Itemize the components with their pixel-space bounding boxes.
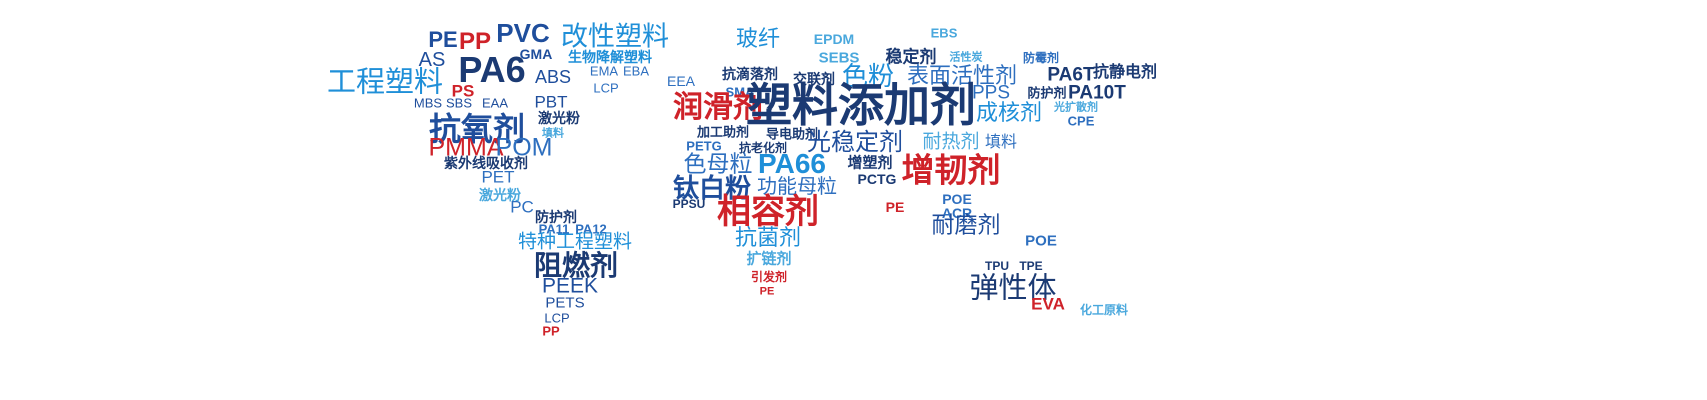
word-cloud-canvas: PEPPPVCGMA改性塑料玻纤EPDMEBSASPA6ABS生物降解塑料EMA…	[0, 0, 1707, 400]
cloud-word[interactable]: 加工助剂	[697, 126, 749, 139]
cloud-word[interactable]: 抗静电剂	[1093, 65, 1157, 81]
cloud-word[interactable]: EBS	[931, 27, 958, 40]
cloud-word[interactable]: 化工原料	[1080, 304, 1128, 316]
cloud-word[interactable]: 特种工程塑料	[518, 233, 632, 252]
cloud-word[interactable]: PVC	[496, 20, 549, 46]
cloud-word[interactable]: TPE	[1019, 260, 1042, 272]
cloud-word[interactable]: POE	[1025, 234, 1057, 249]
cloud-word[interactable]: ABS	[535, 68, 571, 86]
cloud-word[interactable]: EAA	[482, 97, 508, 110]
cloud-word[interactable]: 耐热剂	[922, 133, 979, 152]
cloud-word[interactable]: 光扩散剂	[1054, 103, 1098, 114]
cloud-word[interactable]: 抗菌剂	[735, 227, 801, 249]
cloud-word[interactable]: 扩链剂	[746, 252, 791, 267]
cloud-word[interactable]: CPE	[1068, 115, 1095, 128]
cloud-word[interactable]: LCP	[593, 82, 618, 95]
cloud-word[interactable]: PA66	[758, 150, 826, 178]
cloud-word[interactable]: EEA	[667, 74, 695, 88]
cloud-word[interactable]: PC	[510, 199, 534, 216]
cloud-word[interactable]: PE	[428, 29, 457, 51]
cloud-word[interactable]: PCTG	[858, 172, 897, 186]
cloud-word[interactable]: PPSU	[673, 198, 706, 210]
cloud-word[interactable]: PETS	[545, 296, 584, 311]
cloud-word[interactable]: 引发剂	[751, 271, 787, 283]
cloud-word[interactable]: 增韧剂	[902, 154, 1001, 187]
cloud-word[interactable]: PET	[481, 169, 514, 186]
cloud-word[interactable]: TPU	[985, 260, 1009, 272]
cloud-word[interactable]: EBA	[623, 65, 649, 78]
cloud-word[interactable]: 活性炭	[950, 53, 983, 64]
cloud-word[interactable]: 生物降解塑料	[568, 50, 652, 64]
cloud-word[interactable]: 填料	[985, 135, 1017, 151]
cloud-word[interactable]: EMA	[590, 65, 618, 78]
cloud-word[interactable]: PPS	[972, 84, 1010, 103]
cloud-word[interactable]: 工程塑料	[327, 69, 443, 98]
cloud-word[interactable]: 玻纤	[736, 28, 780, 50]
cloud-word[interactable]: POE	[942, 192, 972, 206]
cloud-word[interactable]: 激光粉	[538, 111, 580, 125]
cloud-word[interactable]: EVA	[1031, 296, 1065, 313]
cloud-word[interactable]: 塑料添加剂	[746, 82, 976, 128]
cloud-word[interactable]: PA10T	[1068, 84, 1126, 103]
cloud-word[interactable]: 改性塑料	[561, 24, 669, 51]
cloud-word[interactable]: SBS	[446, 97, 472, 110]
cloud-word[interactable]: MBS	[414, 97, 442, 110]
cloud-word[interactable]: 相容剂	[717, 195, 819, 229]
cloud-word[interactable]: PP	[542, 325, 559, 338]
cloud-word[interactable]: PE	[886, 200, 905, 214]
cloud-word[interactable]: 防霉剂	[1023, 52, 1059, 64]
cloud-word[interactable]: PEEK	[542, 276, 598, 297]
cloud-word[interactable]: 增塑剂	[847, 156, 892, 171]
cloud-word[interactable]: 成核剂	[976, 102, 1042, 124]
cloud-word[interactable]: PBT	[534, 94, 567, 111]
cloud-word[interactable]: PE	[760, 287, 775, 298]
cloud-word[interactable]: EPDM	[814, 32, 854, 46]
cloud-word[interactable]: 耐磨剂	[932, 214, 1001, 237]
cloud-word[interactable]: 防护剂	[1027, 87, 1066, 100]
